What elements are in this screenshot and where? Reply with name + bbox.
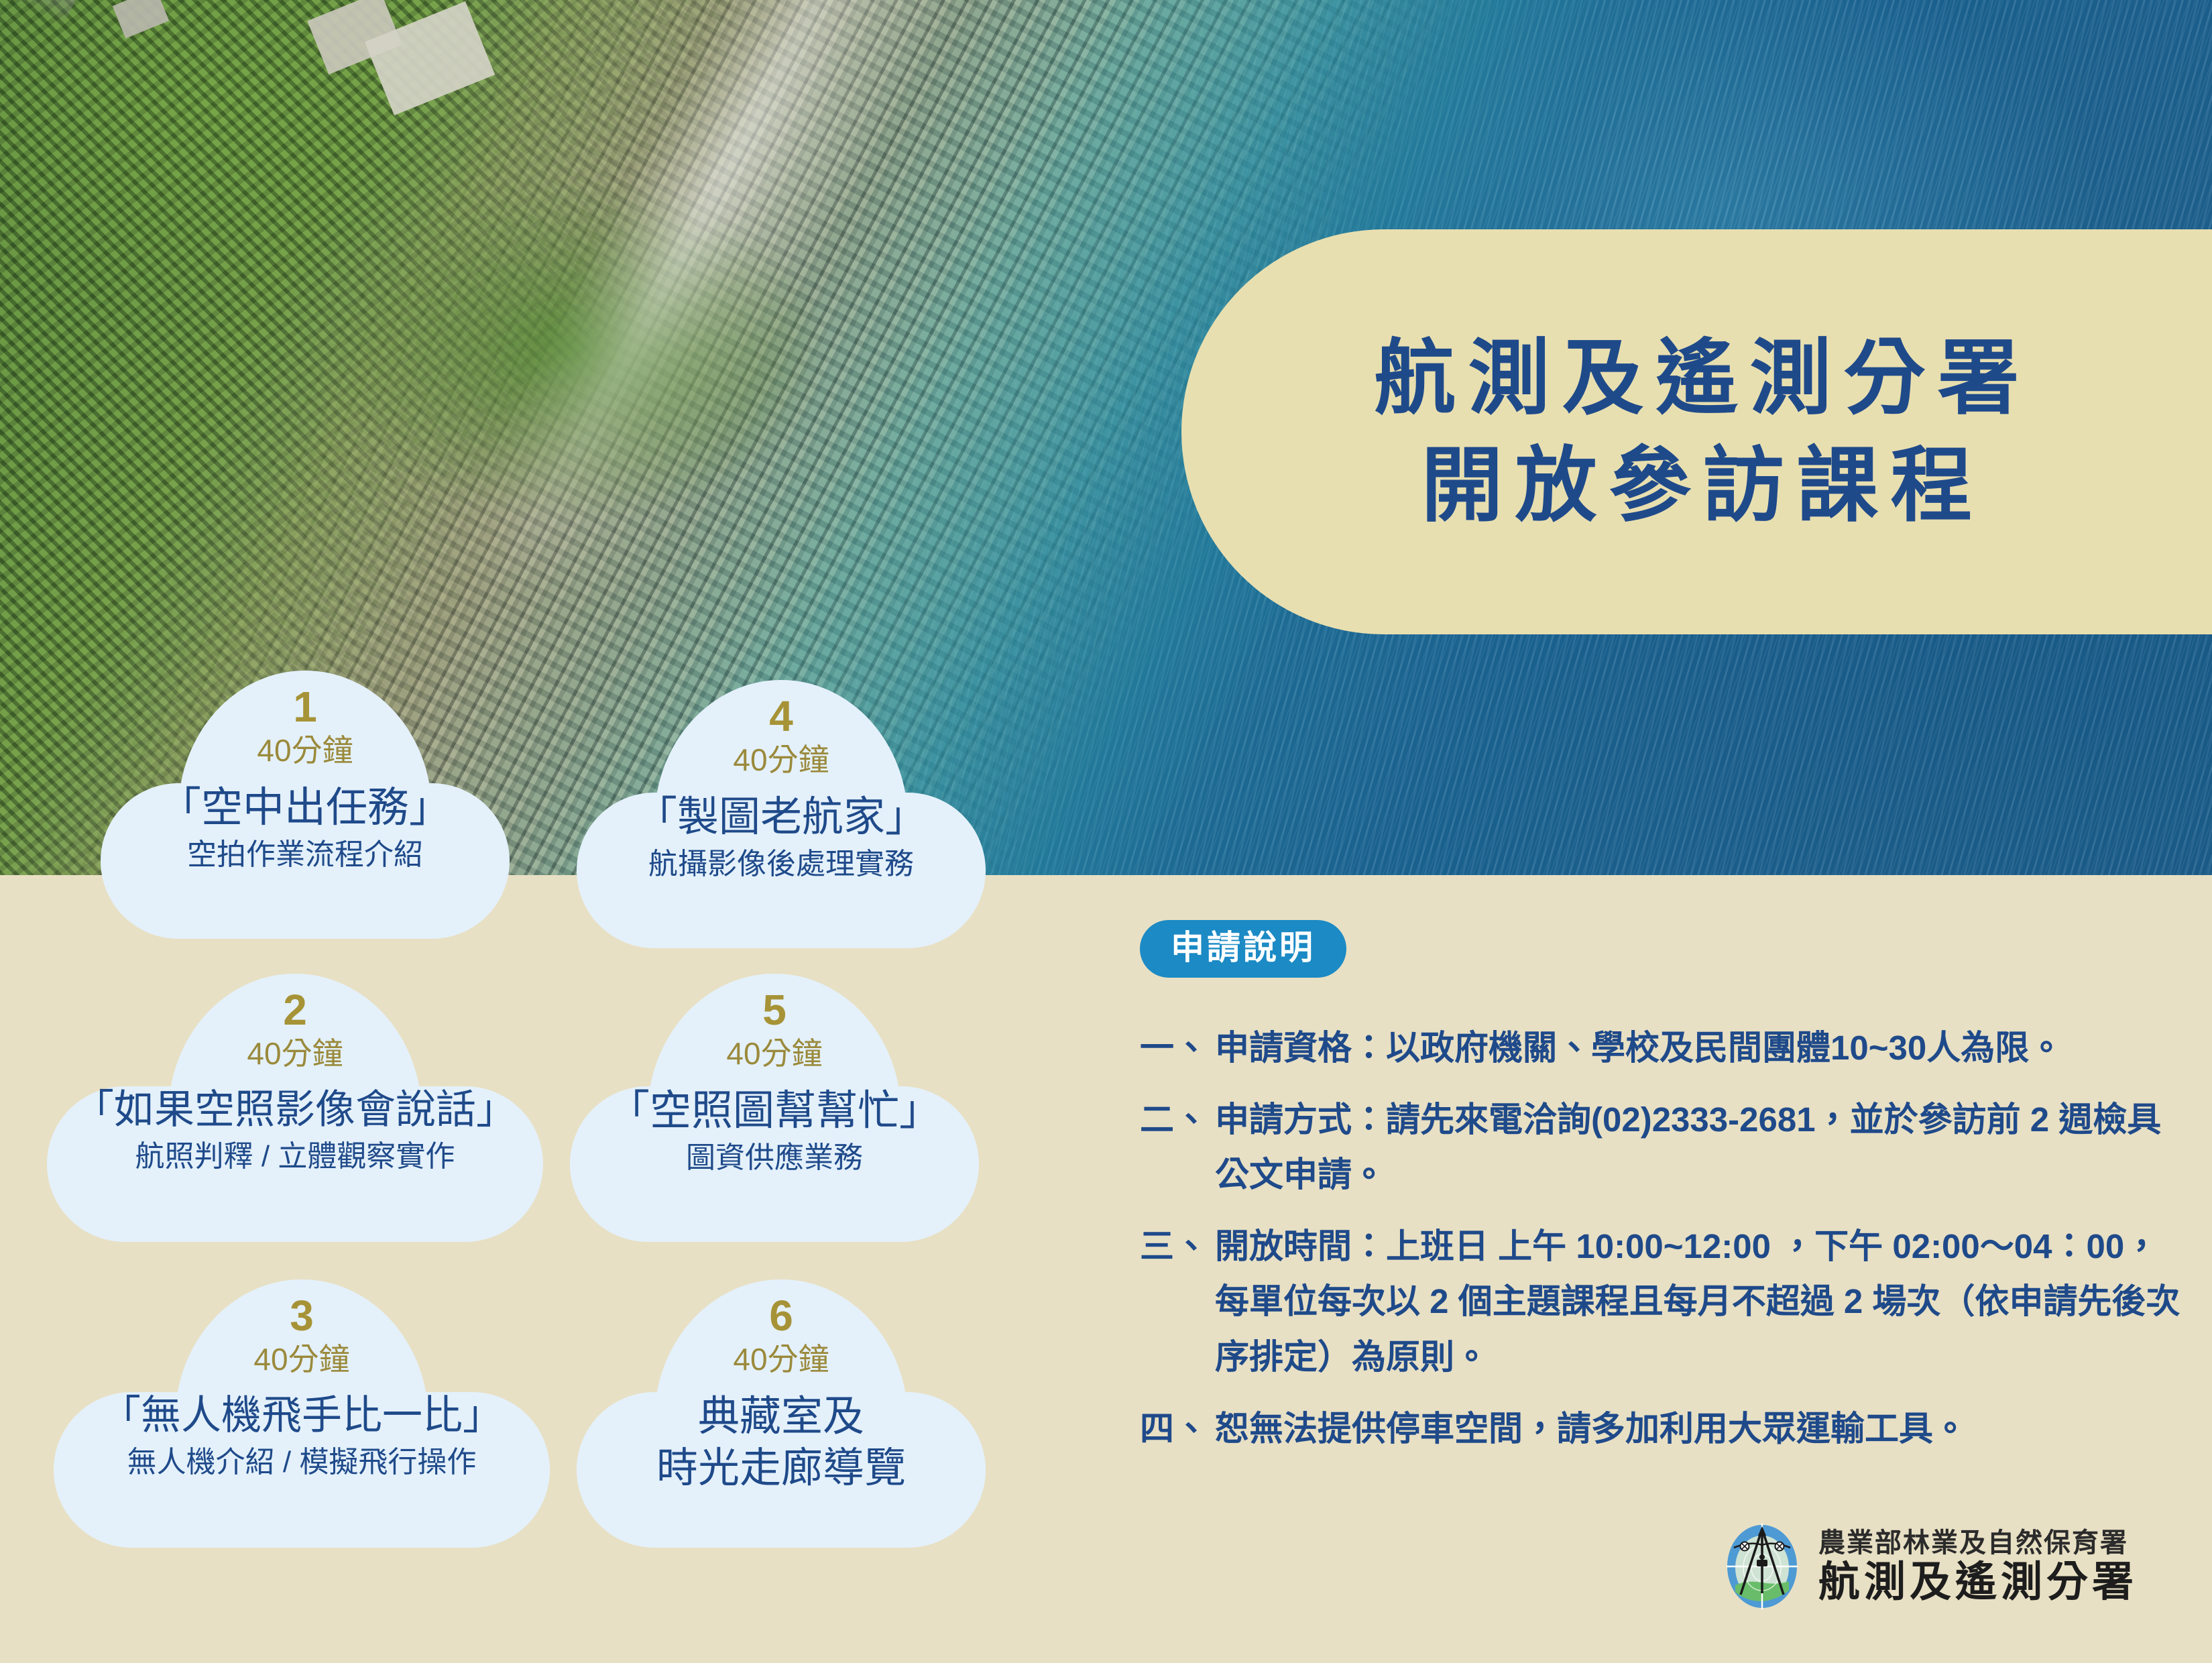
course-card-6[interactable]: 6 40分鐘 典藏室及 時光走廊導覽 [577,1279,986,1548]
page-title-line1: 航測及遙測分署 [1362,329,2032,427]
application-item: 四、 恕無法提供停車空間，請多加利用大眾運輸工具。 [1140,1401,2186,1457]
application-item-marker: 二、 [1140,1092,1215,1203]
course-duration: 40分鐘 [257,735,353,766]
application-item: 二、 申請方式：請先來電洽詢(02)2333-2681，並於參訪前 2 週檢具公… [1140,1092,2186,1203]
application-item-marker: 三、 [1140,1219,1215,1385]
footer-agency-name: 農業部林業及自然保育署 [1818,1528,2138,1559]
application-section: 申請說明 一、 申請資格：以政府機關、學校及民間團體10~30人為限。 二、 申… [1140,920,2186,1473]
course-number: 5 [762,988,787,1031]
course-cloud-grid: 1 40分鐘 「空中出任務」 空拍作業流程介紹 4 40分鐘 「製圖老航家」 航… [40,671,1086,1529]
application-item-text: 申請資格：以政府機關、學校及民間團體10~30人為限。 [1215,1021,2186,1076]
footer-branch-name: 航測及遙測分署 [1818,1559,2138,1605]
course-subtitle: 空拍作業流程介紹 [187,836,423,873]
application-item-marker: 一、 [1140,1021,1215,1076]
course-subtitle: 時光走廊導覽 [656,1442,906,1495]
course-title: 「空中出任務」 [160,783,451,832]
course-duration: 40分鐘 [733,744,829,775]
course-duration: 40分鐘 [247,1038,343,1069]
application-item-text: 恕無法提供停車空間，請多加利用大眾運輸工具。 [1215,1401,2186,1457]
application-item: 三、 開放時間：上班日 上午 10:00~12:00 ，下午 02:00～04：… [1140,1219,2186,1385]
footer-logo-text: 農業部林業及自然保育署 航測及遙測分署 [1818,1528,2138,1606]
application-item: 一、 申請資格：以政府機關、學校及民間團體10~30人為限。 [1140,1021,2186,1076]
course-number: 1 [293,685,317,728]
course-title: 「如果空照影像會說話」 [74,1086,516,1134]
course-number: 6 [769,1294,793,1337]
page-title-line2: 開放參訪課程 [1409,437,1985,534]
application-item-text: 申請方式：請先來電洽詢(02)2333-2681，並於參訪前 2 週檢具公文申請… [1215,1092,2186,1203]
poster-title-card: 航測及遙測分署 開放參訪課程 [1181,229,2212,634]
application-item-marker: 四、 [1140,1401,1215,1457]
application-badge: 申請說明 [1140,920,1346,978]
poster-root: 航測及遙測分署 開放參訪課程 1 40分鐘 「空中出任務」 空拍作業流程介紹 4… [0,0,2212,1663]
course-subtitle: 航照判釋 / 立體觀察實作 [135,1138,455,1175]
course-number: 4 [769,695,793,738]
course-duration: 40分鐘 [733,1344,829,1375]
course-number: 2 [283,988,307,1031]
course-subtitle: 無人機介紹 / 模擬飛行操作 [127,1444,477,1481]
course-card-1[interactable]: 1 40分鐘 「空中出任務」 空拍作業流程介紹 [101,671,510,939]
course-duration: 40分鐘 [726,1038,822,1069]
footer-logo: 農業部林業及自然保育署 航測及遙測分署 [1723,1521,2138,1612]
course-number: 3 [290,1294,314,1337]
course-card-3[interactable]: 3 40分鐘 「無人機飛手比一比」 無人機介紹 / 模擬飛行操作 [54,1279,550,1548]
course-title: 「空照圖幫幫忙」 [608,1086,941,1135]
course-card-5[interactable]: 5 40分鐘 「空照圖幫幫忙」 圖資供應業務 [570,974,979,1242]
surveying-tripod-emblem-icon [1723,1521,1801,1612]
course-title: 「製圖老航家」 [636,793,927,842]
course-card-4[interactable]: 4 40分鐘 「製圖老航家」 航攝影像後處理實務 [577,680,986,948]
course-subtitle: 航攝影像後處理實務 [648,846,914,882]
course-card-2[interactable]: 2 40分鐘 「如果空照影像會說話」 航照判釋 / 立體觀察實作 [47,974,543,1242]
course-subtitle: 圖資供應業務 [686,1139,863,1176]
application-list: 一、 申請資格：以政府機關、學校及民間團體10~30人為限。 二、 申請方式：請… [1140,1021,2186,1456]
course-title: 典藏室及 [698,1392,864,1441]
application-item-text: 開放時間：上班日 上午 10:00~12:00 ，下午 02:00～04：00，… [1215,1219,2186,1385]
course-title: 「無人機飛手比一比」 [101,1392,503,1440]
course-duration: 40分鐘 [253,1344,349,1375]
